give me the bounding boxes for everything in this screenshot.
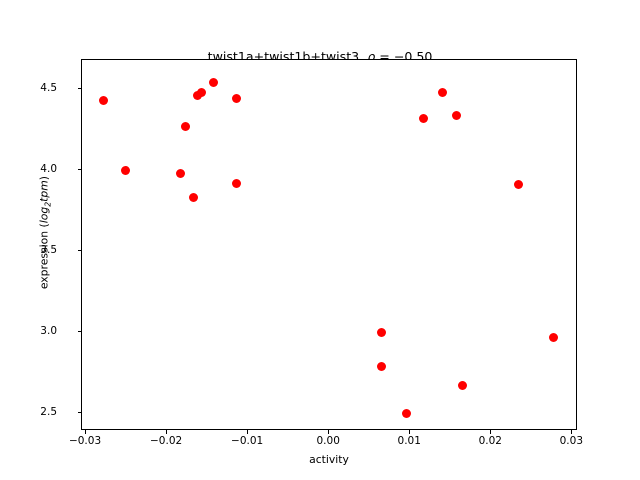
x-tick-mark — [571, 430, 572, 434]
scatter-point — [419, 114, 428, 123]
y-tick-mark — [78, 331, 82, 332]
y-tick-mark — [78, 412, 82, 413]
scatter-point — [209, 78, 218, 87]
scatter-point — [232, 94, 241, 103]
scatter-point — [197, 88, 206, 97]
scatter-point — [514, 180, 523, 189]
x-tick-mark — [409, 430, 410, 434]
y-tick-mark — [78, 88, 82, 89]
y-axis-label-log: log — [37, 207, 50, 223]
x-axis-label: activity — [81, 453, 577, 466]
y-axis-label-suffix: ) — [37, 176, 50, 180]
y-tick-mark — [78, 250, 82, 251]
scatter-point — [377, 328, 386, 337]
x-tick-label: 0.03 — [560, 435, 583, 447]
scatter-point — [377, 362, 386, 371]
y-axis-label: expression (log2tpm) — [37, 83, 52, 383]
scatter-point — [121, 166, 130, 175]
scatter-point — [232, 179, 241, 188]
x-tick-label: 0.01 — [398, 435, 421, 447]
scatter-plot-figure: twist1a+twist1b+twist3, ρ = −0.50 dr11_v… — [0, 0, 640, 480]
y-axis-label-subscript: 2 — [44, 202, 53, 207]
x-tick-label: −0.03 — [69, 435, 101, 447]
y-tick-mark — [78, 169, 82, 170]
y-tick-label: 2.5 — [40, 406, 57, 418]
x-tick-mark — [328, 430, 329, 434]
scatter-point — [458, 381, 467, 390]
x-tick-mark — [247, 430, 248, 434]
scatter-point — [452, 111, 461, 120]
plot-area — [81, 59, 577, 430]
scatter-point — [176, 169, 185, 178]
scatter-point — [402, 409, 411, 418]
scatter-point — [189, 193, 198, 202]
x-tick-label: −0.02 — [150, 435, 182, 447]
x-tick-label: −0.01 — [231, 435, 263, 447]
scatter-point — [549, 333, 558, 342]
x-tick-mark — [85, 430, 86, 434]
scatter-point — [438, 88, 447, 97]
x-tick-mark — [490, 430, 491, 434]
x-tick-mark — [166, 430, 167, 434]
scatter-point — [99, 96, 108, 105]
y-axis-label-tpm: tpm — [37, 180, 50, 202]
x-tick-label: 0.02 — [479, 435, 502, 447]
scatter-point — [181, 122, 190, 131]
y-axis-label-prefix: expression ( — [37, 223, 50, 289]
x-tick-label: 0.00 — [316, 435, 339, 447]
